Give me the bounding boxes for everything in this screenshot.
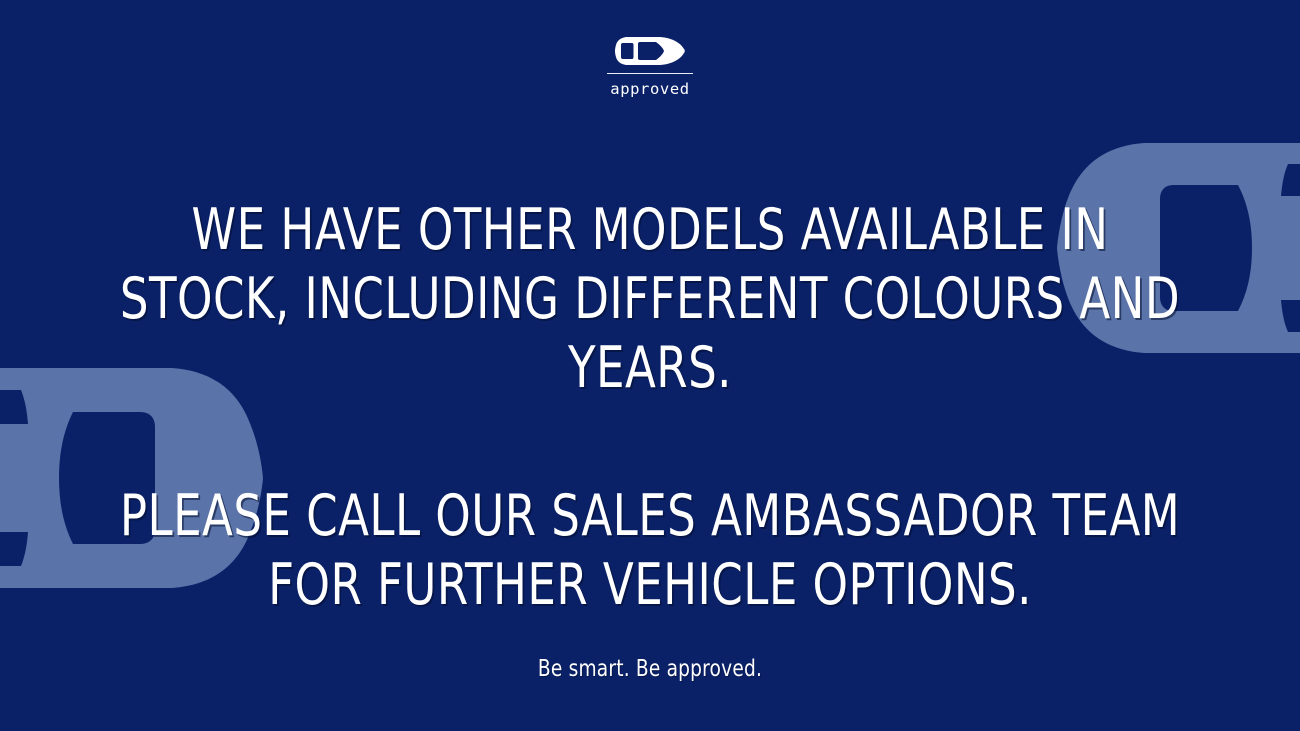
headline-primary: WE HAVE OTHER MODELS AVAILABLE IN STOCK,… xyxy=(78,196,1222,403)
headline-primary-line-1: WE HAVE OTHER MODELS AVAILABLE IN xyxy=(78,196,1222,265)
headline-primary-line-2: STOCK, INCLUDING DIFFERENT COLOURS AND xyxy=(78,265,1222,334)
brand-tagline: Be smart. Be approved. xyxy=(65,655,1235,683)
promo-slide: approved WE HAVE OTHER MODELS AVAILABLE … xyxy=(0,0,1300,731)
headline-secondary: PLEASE CALL OUR SALES AMBASSADOR TEAM FO… xyxy=(78,482,1222,620)
slide-content: WE HAVE OTHER MODELS AVAILABLE IN STOCK,… xyxy=(0,0,1300,731)
headline-primary-line-3: YEARS. xyxy=(78,334,1222,403)
headline-secondary-line-2: FOR FURTHER VEHICLE OPTIONS. xyxy=(78,551,1222,620)
headline-secondary-line-1: PLEASE CALL OUR SALES AMBASSADOR TEAM xyxy=(78,482,1222,551)
